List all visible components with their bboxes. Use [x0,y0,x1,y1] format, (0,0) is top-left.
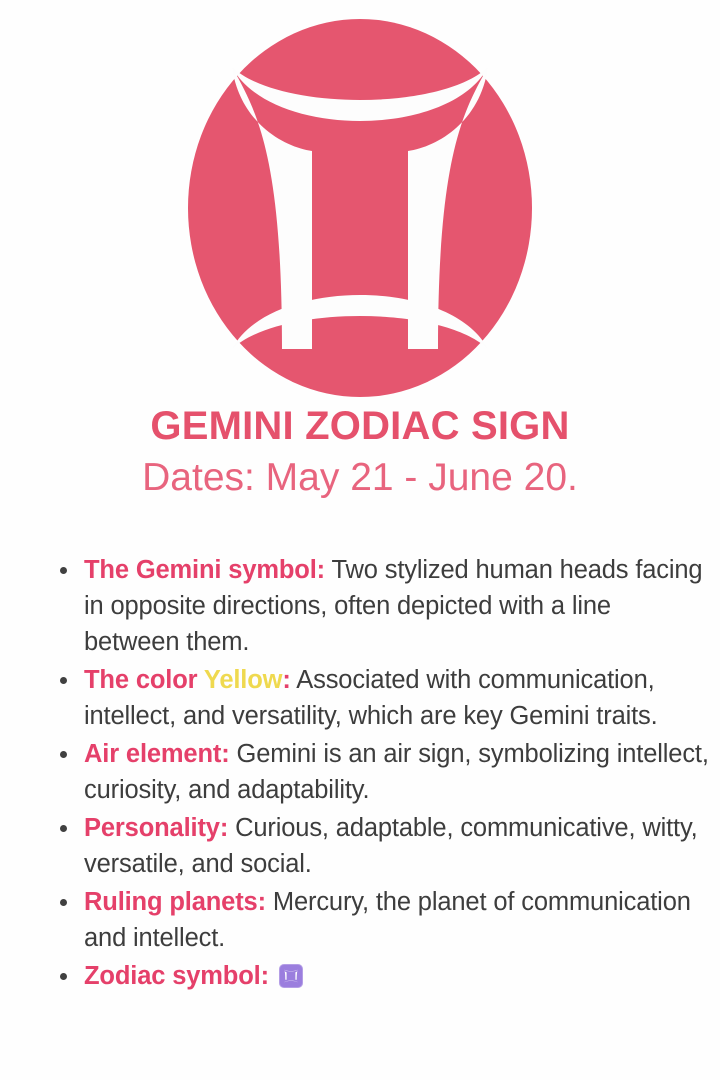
list-item: Personality: Curious, adaptable, communi… [48,810,712,882]
bullet-dot-icon [60,899,67,906]
bullet-dot-icon [60,825,67,832]
gemini-glyph-icon [188,19,532,397]
bullet-dot-icon [60,973,67,980]
fact-label-accent: Yellow [204,666,282,694]
gemini-symbol-emoji-icon [279,964,303,988]
list-item: The color Yellow: Associated with commun… [48,662,712,734]
fact-body [269,962,276,990]
fact-label-tail: : [282,666,290,694]
bullet-dot-icon [60,677,67,684]
gemini-emblem [0,18,720,398]
gemini-zodiac-infographic: GEMINI ZODIAC SIGN Dates: May 21 - June … [0,0,720,1080]
bullet-dot-icon [60,567,67,574]
title-block: GEMINI ZODIAC SIGN Dates: May 21 - June … [0,405,720,501]
fact-label: Zodiac symbol: [84,962,269,990]
fact-label: The Gemini symbol: [84,556,325,584]
facts-list: The Gemini symbol: Two stylized human he… [48,552,712,996]
fact-label: Air element: [84,740,230,768]
bullet-dot-icon [60,751,67,758]
list-item: The Gemini symbol: Two stylized human he… [48,552,712,660]
fact-label: The color [84,666,204,694]
list-item: Ruling planets: Mercury, the planet of c… [48,884,712,956]
fact-label: Ruling planets: [84,888,266,916]
page-title: GEMINI ZODIAC SIGN [0,405,720,447]
list-item: Zodiac symbol: [48,958,712,994]
dates-subtitle: Dates: May 21 - June 20. [0,455,720,501]
fact-label: Personality: [84,814,228,842]
list-item: Air element: Gemini is an air sign, symb… [48,736,712,808]
